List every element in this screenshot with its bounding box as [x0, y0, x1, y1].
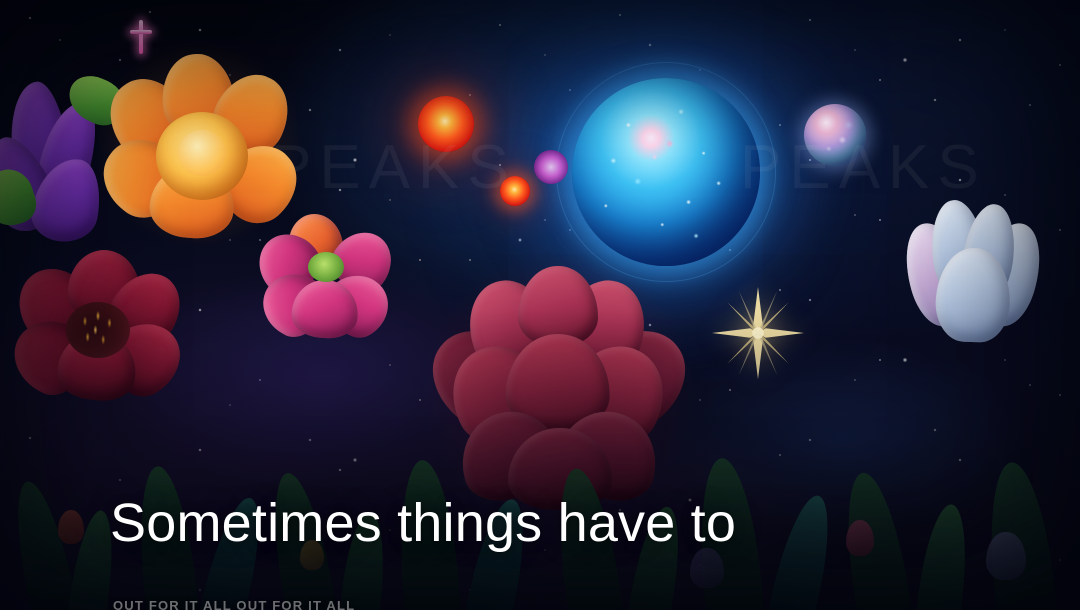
burst-star-icon	[710, 285, 806, 381]
quote-caption: Sometimes things have to go wrong, in or…	[110, 368, 1010, 610]
flower-rose-pink	[258, 218, 392, 340]
artwork-canvas: PEAKS PEAKS	[0, 0, 1080, 610]
flower-peony-orange	[104, 52, 294, 238]
credit-text: OUT FOR IT ALL OUT FOR IT ALL	[113, 598, 633, 610]
magenta-glow-icon	[534, 150, 568, 184]
blue-planet-icon	[572, 78, 760, 266]
flower-tulip-blue	[906, 196, 1038, 346]
quote-line-1: Sometimes things have to	[110, 492, 1010, 554]
watermark-right: PEAKS	[740, 132, 987, 203]
